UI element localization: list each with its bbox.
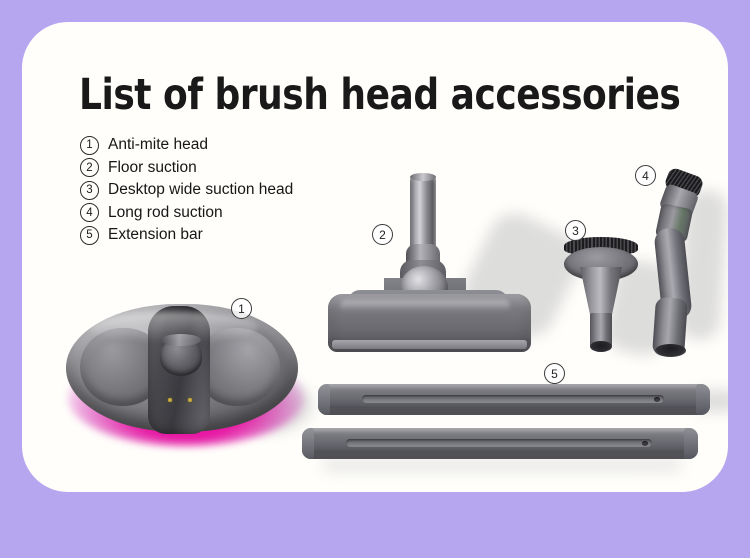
desktop-head-connector-mouth (590, 341, 612, 352)
callout-badge-long-rod-suction: 4 (635, 165, 656, 186)
long-rod-connector-mouth (655, 344, 686, 357)
shadow-extension-bar-2 (322, 458, 682, 472)
extension-bar-right-cap (684, 428, 698, 459)
list-item: 3 Desktop wide suction head (80, 179, 293, 202)
anti-mite-highlight (88, 312, 258, 342)
legend-number-4: 4 (80, 203, 99, 222)
legend-number-2: 2 (80, 158, 99, 177)
floor-suction-tube (410, 174, 436, 252)
product-long-rod-suction (652, 172, 712, 362)
floor-suction-highlight (340, 300, 510, 312)
extension-bar-right-cap (696, 384, 710, 415)
content-card: List of brush head accessories 1 Anti-mi… (22, 22, 728, 492)
list-item: 5 Extension bar (80, 224, 293, 247)
callout-badge-floor-suction: 2 (372, 224, 393, 245)
product-extension-bar (302, 428, 698, 459)
list-item: 4 Long rod suction (80, 202, 293, 225)
extension-bar-left-cap (302, 428, 314, 459)
product-anti-mite-head (60, 298, 310, 448)
accessory-legend-list: 1 Anti-mite head 2 Floor suction 3 Deskt… (80, 134, 293, 247)
extension-bar-groove (362, 395, 664, 403)
extension-bar-release-hole (642, 441, 648, 446)
legend-label-3: Desktop wide suction head (108, 181, 293, 199)
list-item: 2 Floor suction (80, 157, 293, 180)
desktop-head-cone (580, 267, 622, 319)
list-item: 1 Anti-mite head (80, 134, 293, 157)
legend-label-5: Extension bar (108, 226, 203, 244)
anti-mite-contact-dot (168, 398, 172, 402)
product-desktop-wide-suction-head (562, 237, 640, 355)
floor-suction-base-strip (332, 340, 527, 349)
legend-number-3: 3 (80, 181, 99, 200)
legend-label-4: Long rod suction (108, 204, 223, 222)
extension-bar-groove (346, 439, 652, 447)
legend-label-1: Anti-mite head (108, 136, 208, 154)
product-extension-bar (318, 384, 710, 415)
anti-mite-contact-dot (188, 398, 192, 402)
extension-bar-left-cap (318, 384, 330, 415)
callout-badge-extension-bar: 5 (544, 363, 565, 384)
legend-number-1: 1 (80, 136, 99, 155)
legend-label-2: Floor suction (108, 159, 197, 177)
legend-number-5: 5 (80, 226, 99, 245)
product-floor-suction (322, 174, 537, 359)
callout-badge-desktop-wide-suction-head: 3 (565, 220, 586, 241)
callout-badge-anti-mite-head: 1 (231, 298, 252, 319)
extension-bar-release-hole (654, 397, 660, 402)
page-title: List of brush head accessories (79, 70, 680, 120)
infographic-canvas: List of brush head accessories 1 Anti-mi… (0, 0, 750, 558)
floor-suction-tube-cap (410, 173, 436, 181)
